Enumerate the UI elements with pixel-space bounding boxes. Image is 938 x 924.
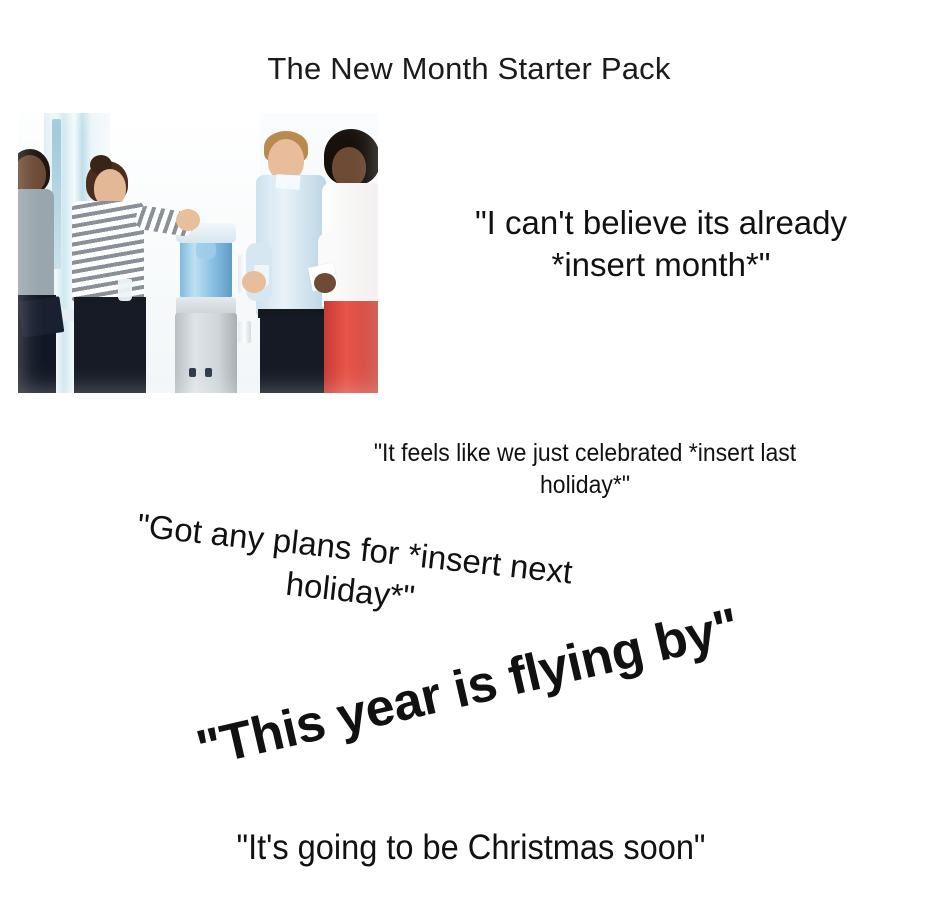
cup-dispenser-lower xyxy=(238,321,251,343)
coworker-blue-hand xyxy=(242,271,266,293)
coworker-right-skirt xyxy=(324,301,378,393)
water-cooler-body xyxy=(175,313,237,393)
caption-christmas-soon: "It's going to be Christmas soon" xyxy=(70,828,872,868)
water-cooler-tap-cold xyxy=(189,368,196,377)
coworker-blue-trousers xyxy=(260,316,324,393)
coworker-striped-skirt xyxy=(74,297,146,393)
office-watercooler-photo xyxy=(18,113,378,393)
caption-insert-month: "I can't believe its already *insert mon… xyxy=(392,202,930,286)
coworker-striped-hand xyxy=(176,209,200,231)
coworker-striped-torso xyxy=(72,201,144,301)
photo-background xyxy=(18,113,378,393)
meme-image: The New Month Starter Pack xyxy=(0,0,938,924)
coworker-left-head xyxy=(18,155,46,193)
coworker-right-hand xyxy=(314,273,336,293)
meme-title: The New Month Starter Pack xyxy=(0,52,938,86)
coworker-blue-collar xyxy=(276,174,301,190)
coworker-striped-water-cup xyxy=(118,279,132,301)
coworker-right-head xyxy=(332,147,366,187)
water-cooler-tap-hot xyxy=(205,368,212,377)
coworker-left-torso xyxy=(18,189,54,299)
caption-next-holiday: "Got any plans for *insert next holiday*… xyxy=(20,492,685,646)
caption-last-holiday: "It feels like we just celebrated *inser… xyxy=(266,437,904,501)
coworker-left-folder xyxy=(18,296,64,337)
